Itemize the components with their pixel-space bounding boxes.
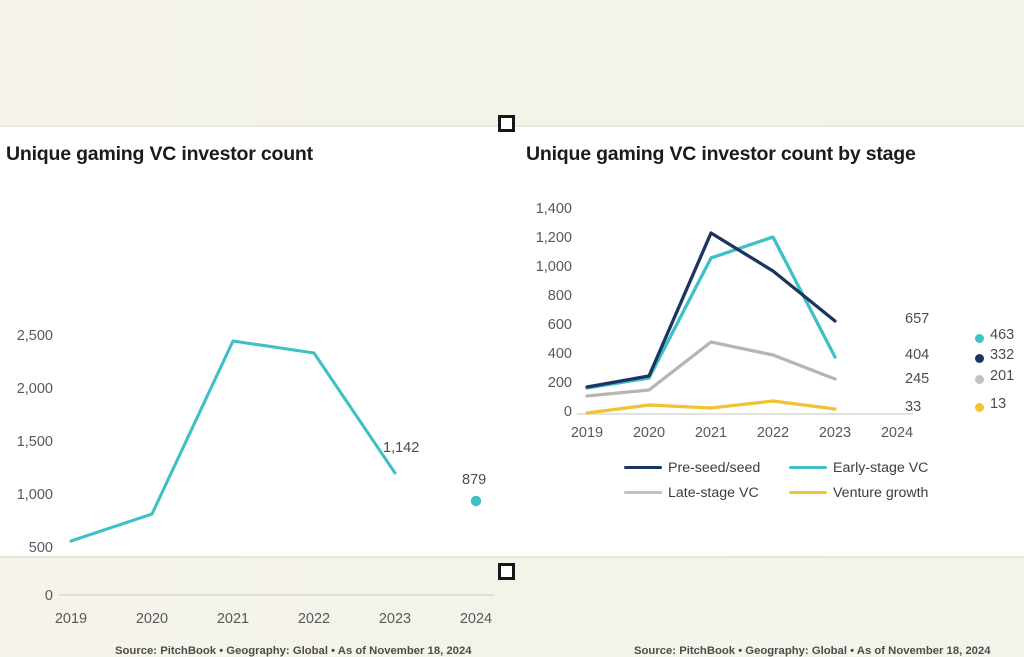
line-plot-by-stage [577,209,913,414]
x-tick-left-1: 2020 [112,611,192,627]
legend-item-late-stage[interactable]: Late-stage VC [624,485,789,501]
data-label-2023-late-stage: 245 [905,371,929,387]
legend-item-pre-seed[interactable]: Pre-seed/seed [624,460,789,476]
y-tick-right-7: 0 [520,404,572,420]
series-point-2024-venture-growth [975,403,984,412]
series-point-2024-late-stage [975,375,984,384]
series-line-total [71,341,395,541]
legend-label-pre-seed: Pre-seed/seed [668,460,760,476]
top-resize-handle[interactable] [498,115,515,132]
line-plot-total [59,312,494,595]
y-tick-left-0: 2,500 [0,328,53,344]
legend-label-venture-growth: Venture growth [833,485,928,501]
series-line-late-stage [587,342,835,396]
x-tick-left-0: 2019 [31,611,111,627]
x-tick-left-3: 2022 [274,611,354,627]
x-tick-left-2: 2021 [193,611,273,627]
legend-swatch-late-stage-icon [624,491,662,494]
y-tick-left-2: 1,500 [0,434,53,450]
y-tick-right-2: 1,000 [520,259,572,275]
legend-swatch-pre-seed-icon [624,466,662,469]
chart-panel-total[interactable]: Unique gaming VC investor count 2,500 2,… [0,127,512,557]
legend-row-1: Pre-seed/seed Early-stage VC [624,455,954,480]
series-point-2024-pre-seed [975,354,984,363]
legend-label-late-stage: Late-stage VC [668,485,759,501]
y-tick-right-6: 200 [520,375,572,391]
source-note-right: Source: PitchBook • Geography: Global • … [634,645,991,657]
y-tick-right-0: 1,400 [520,201,572,217]
series-point-2024-early-stage [975,334,984,343]
y-tick-right-3: 800 [520,288,572,304]
legend-row-2: Late-stage VC Venture growth [624,480,954,505]
x-tick-left-5: 2024 [436,611,516,627]
x-tick-right-5: 2024 [859,425,935,441]
chart-panel-by-stage[interactable]: Unique gaming VC investor count by stage… [512,127,1024,557]
data-label-2024-early-stage: 463 [990,327,1014,343]
x-tick-left-4: 2023 [355,611,435,627]
data-label-2024-left: 879 [462,472,486,488]
legend-item-early-stage[interactable]: Early-stage VC [789,460,954,476]
y-tick-left-5: 0 [0,588,53,604]
y-tick-left-4: 500 [0,540,53,556]
data-label-2024-venture-growth: 13 [990,396,1006,412]
y-tick-left-3: 1,000 [0,487,53,503]
legend-label-early-stage: Early-stage VC [833,460,928,476]
chart-legend: Pre-seed/seed Early-stage VC Late-stage … [624,455,954,505]
slide-canvas: Unique gaming VC investor count 2,500 2,… [0,0,1024,655]
data-label-2023-venture-growth: 33 [905,399,921,415]
legend-item-venture-growth[interactable]: Venture growth [789,485,954,501]
y-tick-right-5: 400 [520,346,572,362]
legend-swatch-venture-growth-icon [789,491,827,494]
data-label-2024-pre-seed: 332 [990,347,1014,363]
source-note-left: Source: PitchBook • Geography: Global • … [115,645,472,657]
series-point-2024 [471,496,481,506]
data-label-2024-late-stage: 201 [990,368,1014,384]
bottom-resize-handle[interactable] [498,563,515,580]
legend-swatch-early-stage-icon [789,466,827,469]
data-label-2023-left: 1,142 [383,440,419,456]
data-label-2023-pre-seed: 657 [905,311,929,327]
series-line-venture-growth [587,401,835,413]
page-title-right: Unique gaming VC investor count by stage [526,143,916,166]
y-tick-right-4: 600 [520,317,572,333]
y-tick-right-1: 1,200 [520,230,572,246]
data-label-2023-early-stage: 404 [905,347,929,363]
y-tick-left-1: 2,000 [0,381,53,397]
page-title-left: Unique gaming VC investor count [6,143,313,166]
